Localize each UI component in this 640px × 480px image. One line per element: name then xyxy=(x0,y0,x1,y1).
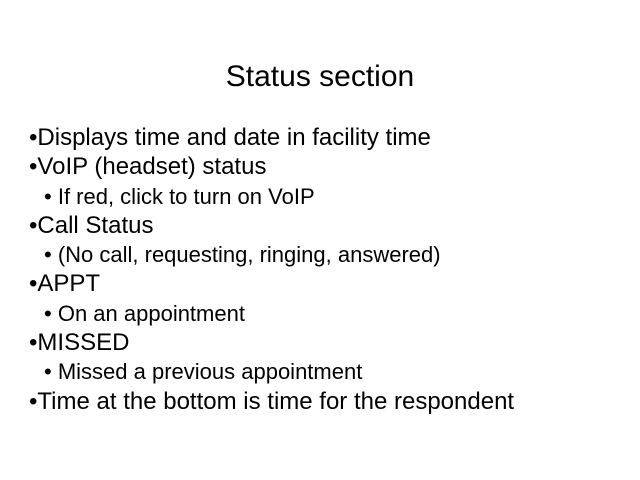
bullet-marker-icon: • xyxy=(44,301,58,326)
list-item: •MISSED xyxy=(0,328,640,357)
list-item-label: VoIP (headset) status xyxy=(37,153,266,180)
bullet-marker-icon: • xyxy=(44,242,58,267)
list-item-label: MISSED xyxy=(37,329,129,356)
bullet-marker-icon: • xyxy=(44,184,58,209)
list-item: •VoIP (headset) status xyxy=(0,152,640,181)
list-item: • If red, click to turn on VoIP xyxy=(0,182,640,211)
page-title: Status section xyxy=(0,60,640,94)
list-item-label: Call Status xyxy=(37,212,153,239)
list-item: • (No call, requesting, ringing, answere… xyxy=(0,240,640,269)
list-item: •Displays time and date in facility time xyxy=(0,123,640,152)
list-item: •Call Status xyxy=(0,211,640,240)
list-item-label: APPT xyxy=(37,270,100,297)
list-item-label: Time at the bottom is time for the respo… xyxy=(37,388,514,415)
bullet-marker-icon: • xyxy=(44,359,58,384)
slide-canvas: Status section •Displays time and date i… xyxy=(0,0,640,480)
list-item: • On an appointment xyxy=(0,299,640,328)
list-item: •Time at the bottom is time for the resp… xyxy=(0,387,640,416)
list-item-label: (No call, requesting, ringing, answered) xyxy=(58,242,441,267)
list-item-label: Displays time and date in facility time xyxy=(37,124,431,151)
list-item: • Missed a previous appointment xyxy=(0,357,640,386)
list-item-label: On an appointment xyxy=(58,301,245,326)
list-item-label: If red, click to turn on VoIP xyxy=(58,184,315,209)
bullet-list: •Displays time and date in facility time… xyxy=(0,123,640,416)
list-item: •APPT xyxy=(0,269,640,298)
list-item-label: Missed a previous appointment xyxy=(58,359,363,384)
